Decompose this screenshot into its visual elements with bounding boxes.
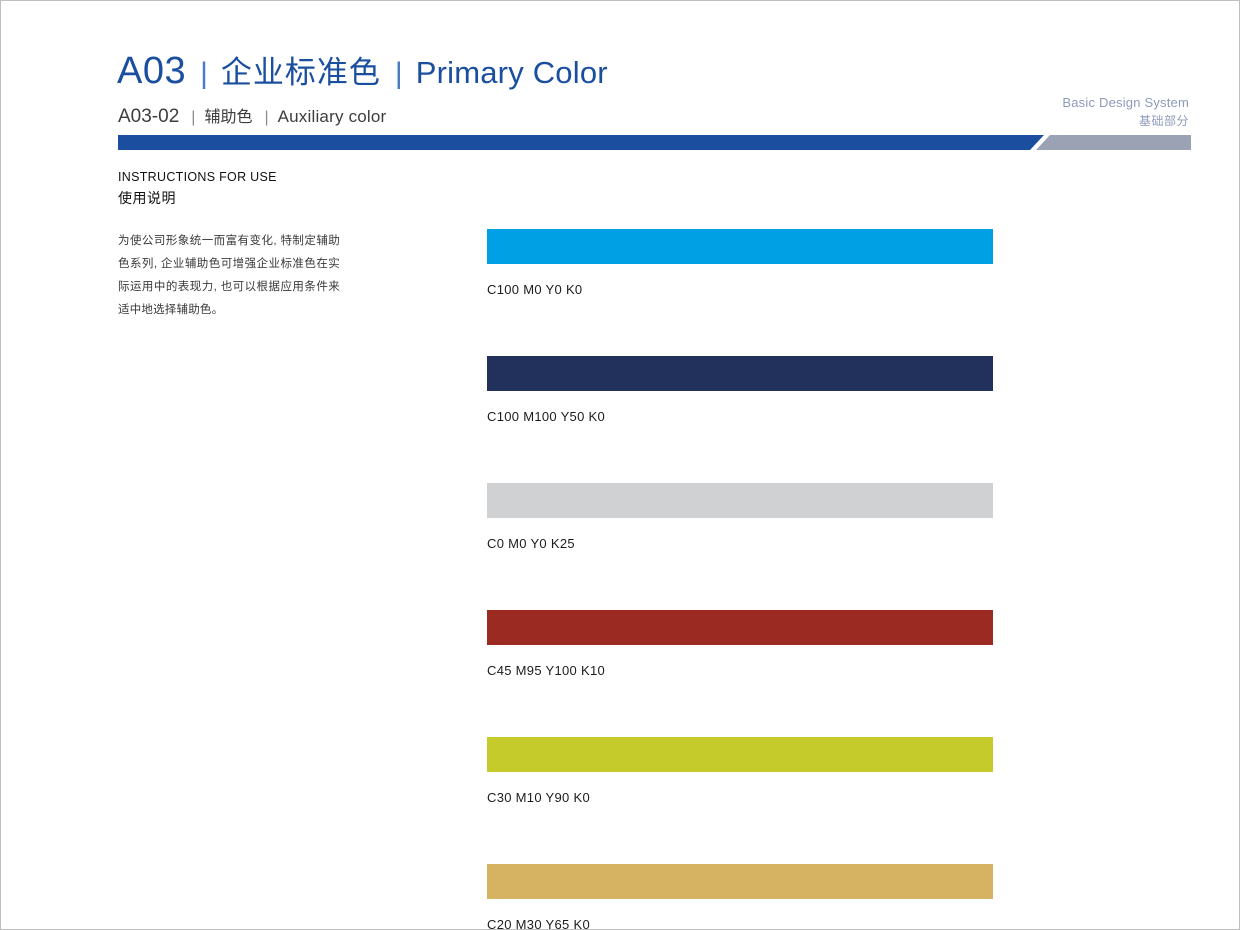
color-swatch-chip bbox=[487, 483, 993, 518]
color-swatch-chip bbox=[487, 737, 993, 772]
page-title: A03 | 企业标准色 | Primary Color bbox=[117, 52, 608, 90]
page-title-chinese: 企业标准色 bbox=[221, 57, 381, 88]
color-swatch-row: C20 M30 Y65 K0 bbox=[487, 864, 993, 930]
color-swatch-row: C45 M95 Y100 K10 bbox=[487, 610, 993, 677]
color-swatch-label: C30 M10 Y90 K0 bbox=[487, 791, 993, 804]
color-swatch-label: C45 M95 Y100 K10 bbox=[487, 664, 993, 677]
subtitle-separator-2: | bbox=[264, 110, 268, 126]
color-swatch-row: C0 M0 Y0 K25 bbox=[487, 483, 993, 550]
divider-shape-icon bbox=[118, 135, 1191, 150]
page-title-english: Primary Color bbox=[416, 57, 608, 88]
subtitle-separator-1: | bbox=[191, 110, 195, 126]
subtitle-code: A03-02 bbox=[118, 107, 179, 126]
instructions-block: INSTRUCTIONS FOR USE 使用说明 为使公司形象统一而富有变化,… bbox=[118, 169, 348, 322]
color-swatch-chip bbox=[487, 229, 993, 264]
section-marker-chinese: 基础部分 bbox=[1062, 113, 1189, 130]
color-swatch-row: C30 M10 Y90 K0 bbox=[487, 737, 993, 804]
section-marker-english: Basic Design System bbox=[1062, 94, 1189, 113]
color-swatch-label: C0 M0 Y0 K25 bbox=[487, 537, 993, 550]
color-swatch-chip bbox=[487, 864, 993, 899]
brand-guideline-page: A03 | 企业标准色 | Primary Color A03-02 | 辅助色… bbox=[0, 0, 1240, 930]
section-marker: Basic Design System 基础部分 bbox=[1062, 94, 1189, 130]
instructions-body-text: 为使公司形象统一而富有变化, 特制定辅助色系列, 企业辅助色可增强企业标准色在实… bbox=[118, 230, 340, 322]
color-swatch-label: C100 M100 Y50 K0 bbox=[487, 410, 993, 423]
page-title-code: A03 bbox=[117, 52, 186, 90]
color-swatch-row: C100 M100 Y50 K0 bbox=[487, 356, 993, 423]
color-swatch-label: C20 M30 Y65 K0 bbox=[487, 918, 993, 930]
subtitle-chinese: 辅助色 bbox=[204, 110, 252, 126]
color-swatch-chip bbox=[487, 356, 993, 391]
title-separator-2: | bbox=[395, 59, 403, 89]
header-divider-bar bbox=[118, 135, 1191, 150]
title-separator-1: | bbox=[200, 59, 208, 89]
color-swatch-chip bbox=[487, 610, 993, 645]
color-swatch-row: C100 M0 Y0 K0 bbox=[487, 229, 993, 296]
instructions-heading-chinese: 使用说明 bbox=[118, 189, 348, 208]
color-swatch-label: C100 M0 Y0 K0 bbox=[487, 283, 993, 296]
instructions-heading-english: INSTRUCTIONS FOR USE bbox=[118, 169, 348, 186]
color-swatch-list: C100 M0 Y0 K0C100 M100 Y50 K0C0 M0 Y0 K2… bbox=[487, 229, 993, 930]
subtitle-english: Auxiliary color bbox=[278, 108, 387, 125]
page-subtitle: A03-02 | 辅助色 | Auxiliary color bbox=[118, 107, 386, 126]
